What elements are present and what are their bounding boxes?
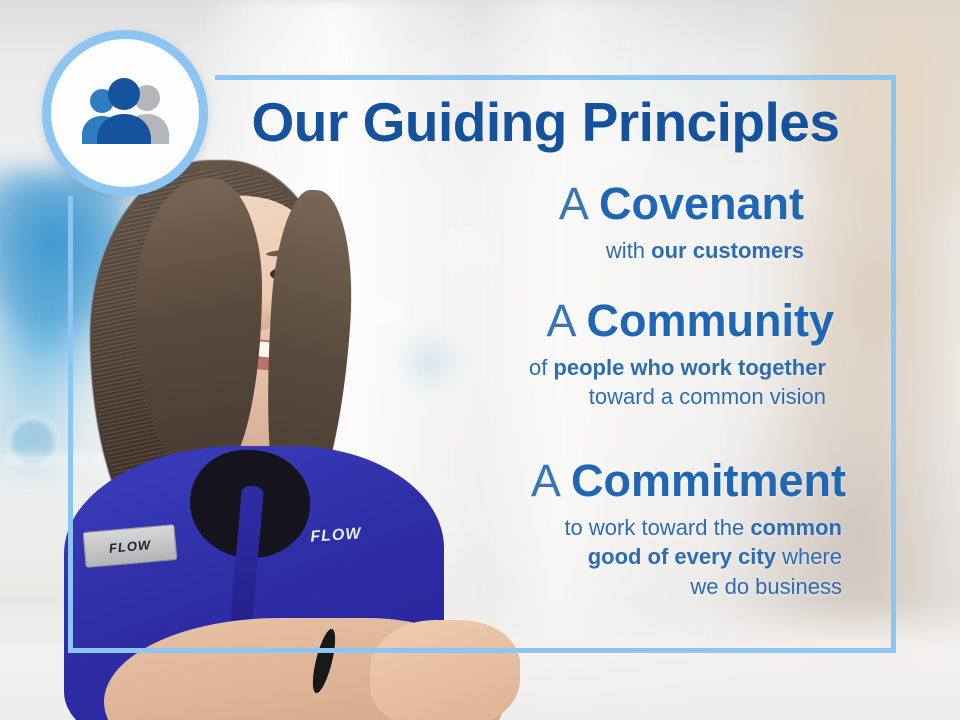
people-group-icon [75, 76, 175, 150]
principle-heading-commitment: A Commitment [215, 457, 864, 505]
frame-border-left [68, 196, 73, 653]
principle-subtext-commitment: to work toward the common good of every … [215, 513, 864, 602]
covenant-sub-regular-1: with [606, 238, 651, 263]
principle-subtext-covenant: with our customers [215, 236, 864, 266]
badge-circle [42, 30, 208, 196]
principle-block-community: A Community of people who work together … [215, 297, 896, 412]
principle-heading-covenant: A Covenant [215, 180, 864, 228]
principle-lead-article-1: A [559, 178, 587, 229]
text-content: Our Guiding Principles A Covenant with o… [215, 75, 896, 653]
principle-keyword-covenant: Covenant [599, 178, 804, 229]
principle-subtext-community: of people who work together toward a com… [215, 353, 864, 412]
principle-block-covenant: A Covenant with our customers [215, 180, 896, 265]
commitment-sub-line-3: we do business [215, 572, 842, 602]
community-sub-bold-1: people who work together [553, 355, 826, 380]
nametag-logo-text: FLOW [108, 537, 151, 556]
principle-block-commitment: A Commitment to work toward the common g… [215, 457, 896, 602]
community-sub-line-2: toward a common vision [215, 382, 826, 412]
covenant-sub-bold-1: our customers [651, 238, 804, 263]
banner-stage: FLOW FLOW Our Guiding Principles [0, 0, 960, 720]
principle-heading-community: A Community [215, 297, 864, 345]
principle-keyword-commitment: Commitment [571, 455, 846, 506]
principle-keyword-community: Community [587, 295, 835, 346]
community-sub-regular-1: of [529, 355, 553, 380]
principle-lead-article-2: A [546, 295, 574, 346]
principle-lead-article-3: A [531, 455, 559, 506]
community-sub-line-1: of people who work together [215, 353, 826, 383]
commitment-sub-line-1: to work toward the common [215, 513, 842, 543]
page-title: Our Guiding Principles [215, 95, 876, 150]
commitment-sub-line-2: good of every city where [215, 542, 842, 572]
